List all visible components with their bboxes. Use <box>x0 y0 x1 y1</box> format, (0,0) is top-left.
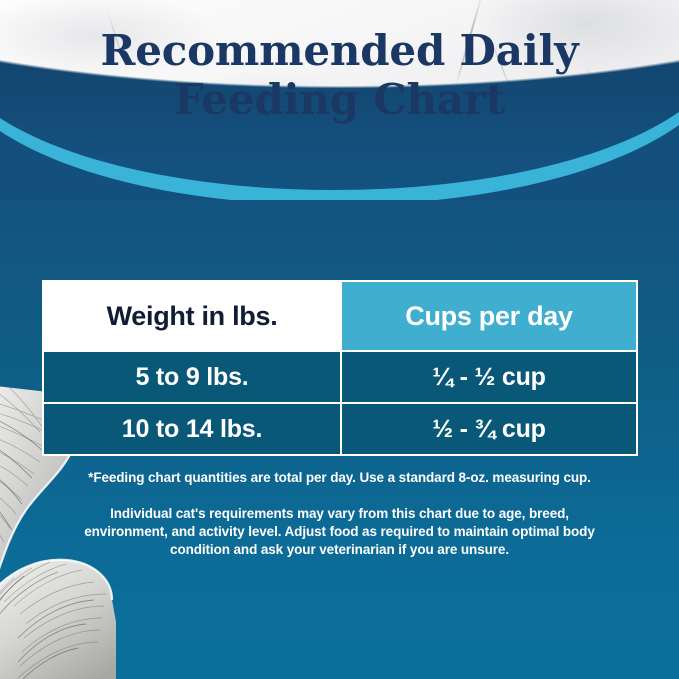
table-header-row: Weight in lbs. Cups per day <box>44 282 636 350</box>
table-row: 5 to 9 lbs. ¼ - ½ cup <box>44 350 636 402</box>
cell-weight: 5 to 9 lbs. <box>44 352 340 402</box>
table-row: 10 to 14 lbs. ½ - ¾ cup <box>44 402 636 454</box>
column-header-weight: Weight in lbs. <box>44 282 340 350</box>
page-title: Recommended Daily Feeding Chart <box>0 26 679 124</box>
cell-cups: ½ - ¾ cup <box>340 404 636 454</box>
cell-weight: 10 to 14 lbs. <box>44 404 340 454</box>
feeding-chart-table: Weight in lbs. Cups per day 5 to 9 lbs. … <box>42 280 638 456</box>
cell-cups: ¼ - ½ cup <box>340 352 636 402</box>
page-title-line-2: Feeding Chart <box>0 75 679 124</box>
column-header-cups: Cups per day <box>340 282 636 350</box>
page-title-line-1: Recommended Daily <box>101 26 579 75</box>
feeding-chart-page: Recommended Daily Feeding Chart <box>0 0 679 679</box>
footnote-secondary: Individual cat's requirements may vary f… <box>78 505 601 559</box>
header-banner: Recommended Daily Feeding Chart <box>0 0 679 200</box>
footnote-primary: *Feeding chart quantities are total per … <box>0 470 679 485</box>
cat-paw-lower <box>0 548 116 679</box>
